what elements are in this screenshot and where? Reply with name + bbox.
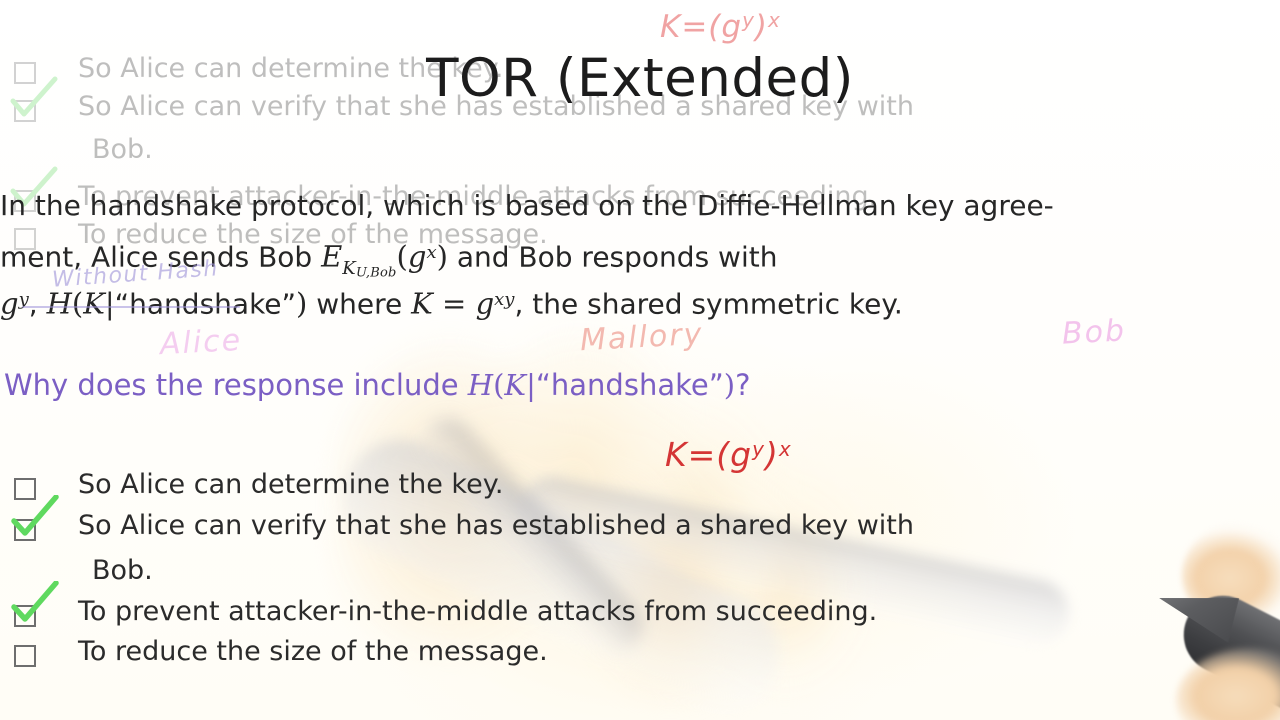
- page-title: TOR (Extended): [0, 48, 1280, 109]
- question-math-pipe: |: [526, 368, 536, 402]
- question-math-H: H: [468, 368, 493, 402]
- math-K: K: [83, 287, 105, 321]
- math-pipe: |: [105, 287, 115, 321]
- math-H: H: [47, 287, 72, 321]
- handwritten-underline: [22, 306, 240, 308]
- math-g-exponent-xy: xy: [494, 289, 514, 310]
- question-math-K: K: [504, 368, 526, 402]
- body-line-1-text: In the handshake protocol, which is base…: [0, 189, 1054, 222]
- math-K-equals: K: [411, 287, 433, 321]
- math-g-second: g: [0, 287, 19, 321]
- body-where: where: [307, 288, 411, 321]
- answer-continuation-2: Bob.: [92, 555, 153, 586]
- body-line-3: gy, H(K|“handshake”) where K = gxy, the …: [0, 276, 903, 328]
- answer-label-3: To prevent attacker-in-the-middle attack…: [78, 596, 877, 627]
- math-g: g: [408, 240, 427, 274]
- question-prompt: Why does the response include H(K|“hands…: [4, 368, 750, 402]
- math-paren-open: (: [397, 240, 408, 274]
- body-line-1: In the handshake protocol, which is base…: [0, 182, 1054, 229]
- math-g-third: g: [476, 287, 495, 321]
- math-H-paren-close: ): [296, 287, 307, 321]
- question-handshake-literal: “handshake”: [536, 368, 724, 402]
- math-E: E: [321, 240, 342, 274]
- body-line-2-prefix: ment, Alice sends Bob: [0, 241, 321, 274]
- math-comma: ,: [29, 288, 47, 321]
- slide-canvas: So Alice can determine the key. So Alice…: [0, 0, 1280, 720]
- body-line-2-suffix: and Bob responds with: [448, 241, 778, 274]
- question-mark: ?: [735, 368, 750, 402]
- math-H-paren-open: (: [72, 287, 83, 321]
- math-handshake-literal: “handshake”: [115, 288, 296, 321]
- checkbox-option-3[interactable]: [14, 605, 36, 627]
- question-text: Why does the response include: [4, 368, 468, 402]
- math-paren-close: ): [437, 240, 448, 274]
- checkbox-option-4[interactable]: [14, 645, 36, 667]
- checkbox-option-2[interactable]: [14, 519, 36, 541]
- answer-label-2: So Alice can verify that she has establi…: [78, 510, 914, 541]
- question-math-paren-open: (: [493, 368, 504, 402]
- body-line-3-tail: , the shared symmetric key.: [514, 288, 902, 321]
- answer-label-4: To reduce the size of the message.: [78, 636, 548, 667]
- question-math-paren-close: ): [724, 368, 735, 402]
- math-equals-sign: =: [433, 287, 476, 321]
- checkbox-option-1[interactable]: [14, 478, 36, 500]
- answer-label-1: So Alice can determine the key.: [78, 469, 503, 500]
- ghost-answer-continuation: Bob.: [92, 134, 153, 165]
- math-g-exponent-x: x: [426, 242, 436, 263]
